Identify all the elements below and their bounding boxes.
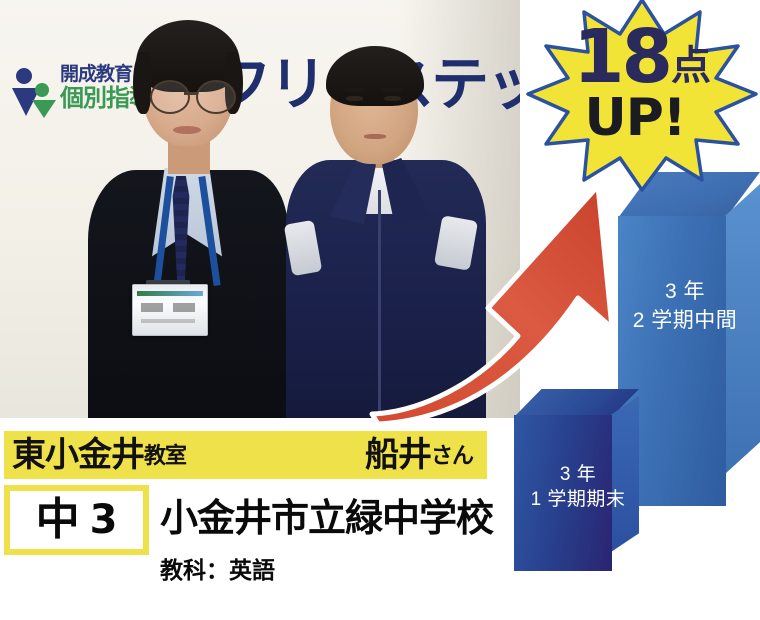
badge-up-label: UP! bbox=[540, 92, 730, 144]
student-name: 船井 bbox=[365, 436, 431, 474]
poster-root: 開成教育 個別指導 フリーステップ bbox=[0, 0, 760, 620]
teacher-id-badge bbox=[132, 284, 208, 336]
classroom-info-bar: 東小金井教室 船井さん bbox=[4, 431, 487, 479]
student-name-group: 船井さん bbox=[365, 434, 473, 476]
student-mouth bbox=[364, 134, 386, 139]
id-badge-header-strip bbox=[137, 291, 203, 296]
badge-number-row: 18点 bbox=[540, 20, 744, 94]
classroom-name-group: 東小金井教室 bbox=[12, 434, 186, 476]
subject-label: 教科：英語 bbox=[160, 556, 500, 584]
bar-term1-label-line2: 1 学期期末 bbox=[522, 487, 634, 512]
student-jacket-zipper bbox=[378, 190, 381, 418]
teacher-glasses-right-lens bbox=[196, 80, 236, 114]
grade-prefix: 中 bbox=[36, 495, 80, 544]
grade-badge-box: 中3 bbox=[4, 485, 149, 555]
id-badge-text-block-3 bbox=[141, 319, 195, 323]
student-photo: 開成教育 個別指導 フリーステップ bbox=[0, 0, 520, 418]
teacher-hair-side-left bbox=[133, 52, 151, 114]
school-name: 小金井市立緑中学校 bbox=[160, 497, 500, 541]
badge-unit: 点 bbox=[671, 44, 711, 88]
id-badge-text-block-2 bbox=[173, 303, 195, 312]
teacher-glasses-bridge bbox=[184, 92, 198, 95]
student-eye-right bbox=[384, 96, 401, 101]
classroom-suffix: 教室 bbox=[144, 443, 186, 468]
classroom-name: 東小金井 bbox=[12, 436, 144, 474]
student-eye-left bbox=[346, 96, 363, 101]
badge-text-group: 18点 UP! bbox=[524, 0, 760, 194]
points-up-badge: 18点 UP! bbox=[524, 0, 760, 194]
id-badge-text-block-1 bbox=[141, 303, 163, 312]
person-logo-icon bbox=[10, 66, 56, 118]
student-name-suffix: さん bbox=[431, 443, 473, 468]
bar-term1-label-line1: 3 年 bbox=[522, 462, 634, 487]
teacher-glasses-left-lens bbox=[150, 80, 190, 114]
grade-badge-content: 中3 bbox=[10, 491, 143, 549]
grade-number: 3 bbox=[90, 497, 118, 543]
student-eyebrow-left bbox=[344, 88, 364, 92]
student-eyebrow-right bbox=[382, 88, 402, 92]
teacher-mouth bbox=[173, 126, 201, 134]
bar-term1-label: 3 年 1 学期期末 bbox=[522, 462, 634, 512]
